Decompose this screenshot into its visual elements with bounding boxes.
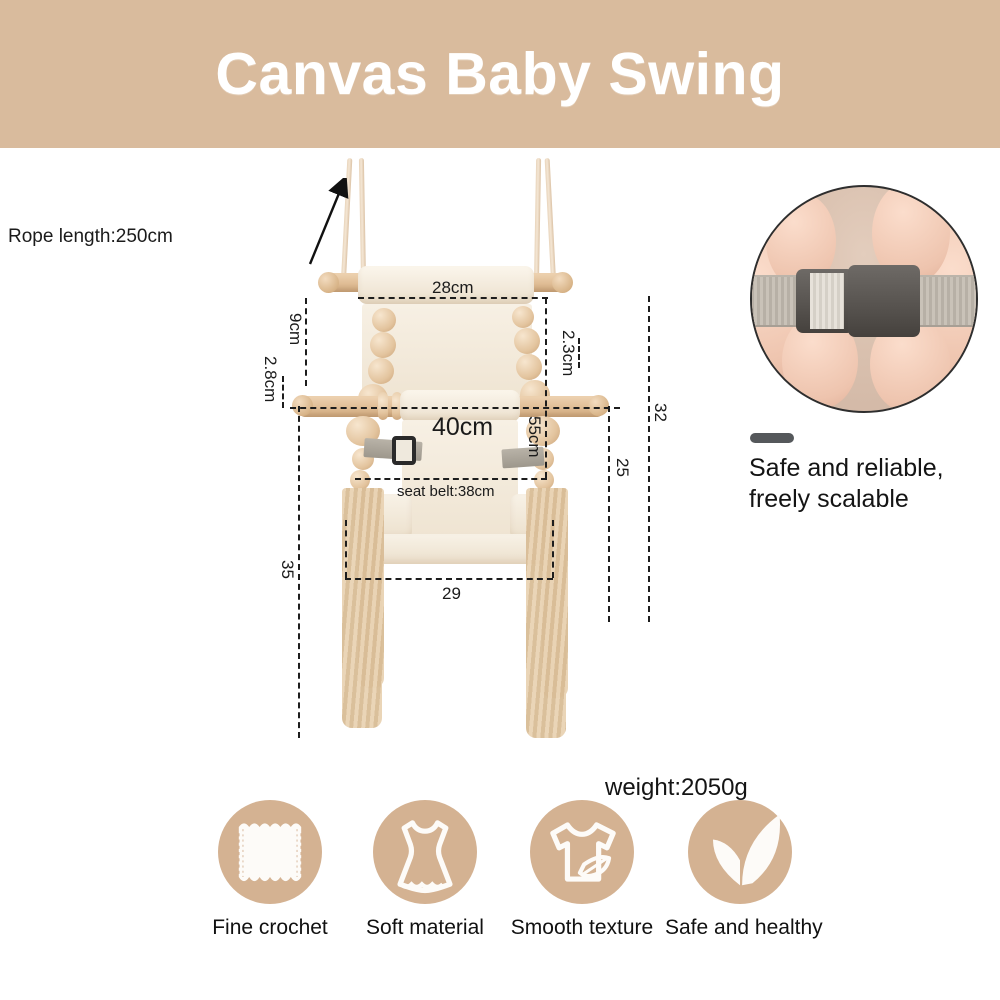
dim-label-25: 25 xyxy=(612,458,632,477)
dim-label-28cm: 28cm xyxy=(432,278,474,298)
dim-line-bar-level xyxy=(290,407,620,409)
buckle-caption-line2: freely scalable xyxy=(749,484,989,515)
rope-right-inner xyxy=(534,158,541,288)
feature-label-2: Soft material xyxy=(350,916,500,940)
buckle-male-half xyxy=(848,265,920,337)
dim-line-seat-belt xyxy=(355,478,547,480)
buckle-photo xyxy=(750,185,978,413)
bar-ring-1 xyxy=(378,392,388,420)
header-band: Canvas Baby Swing xyxy=(0,0,1000,148)
dim-line-2-3cm xyxy=(578,338,580,368)
weight-label: weight:2050g xyxy=(605,774,748,802)
leaf-sprout-icon xyxy=(688,800,792,904)
dim-line-35 xyxy=(298,406,300,738)
bead-right-2 xyxy=(514,328,540,354)
tassel-right2 xyxy=(542,488,568,698)
buckle-caption-line1: Safe and reliable, xyxy=(749,453,989,484)
dim-label-35: 35 xyxy=(277,560,297,579)
dim-line-9cm xyxy=(305,298,307,386)
feature-row: weight:2050g Fine crochet Soft material xyxy=(195,800,875,980)
feature-item-safe-healthy: Safe and healthy xyxy=(665,800,815,940)
caption-dash-marker xyxy=(750,433,794,443)
feature-label-3: Smooth texture xyxy=(507,916,657,940)
dim-label-9cm: 9cm xyxy=(285,313,305,345)
buckle-webbing-insert xyxy=(810,273,844,329)
dim-label-seat-belt: seat belt:38cm xyxy=(397,483,495,500)
bead-lower-right-3 xyxy=(534,470,554,490)
dim-label-55cm: 55cm xyxy=(524,416,544,458)
dim-line-29-right xyxy=(552,520,554,578)
dim-line-2-8cm xyxy=(282,376,284,408)
rope-length-label: Rope length:250cm xyxy=(8,226,173,248)
page-title: Canvas Baby Swing xyxy=(215,45,784,104)
upper-bar-cap-left xyxy=(318,272,339,293)
lower-bar-cap-right xyxy=(588,395,609,416)
feature-item-fine-crochet: Fine crochet xyxy=(195,800,345,940)
buckle-feature-card: Safe and reliable, freely scalable xyxy=(745,185,990,515)
tassel-left2 xyxy=(358,488,384,688)
dim-label-2-3cm: 2.3cm xyxy=(558,330,578,376)
dim-line-32 xyxy=(648,296,650,622)
dim-label-32: 32 xyxy=(650,403,670,422)
dim-label-40cm: 40cm xyxy=(432,413,493,442)
bead-left-2 xyxy=(370,332,396,358)
bead-right-3 xyxy=(516,354,542,380)
buckle-caption: Safe and reliable, freely scalable xyxy=(749,453,989,514)
dim-line-25 xyxy=(608,406,610,622)
dress-icon xyxy=(373,800,477,904)
feature-label-1: Fine crochet xyxy=(195,916,345,940)
feature-label-4: Safe and healthy xyxy=(665,916,815,940)
crochet-blanket-icon xyxy=(218,800,322,904)
bead-left-3 xyxy=(368,358,394,384)
dim-label-2-8cm: 2.8cm xyxy=(260,356,280,402)
dim-line-29-left xyxy=(345,520,347,578)
rope-right-outer xyxy=(545,158,557,288)
bead-lower-left-3 xyxy=(350,470,370,490)
tshirt-feather-icon xyxy=(530,800,634,904)
dim-line-55cm xyxy=(545,298,547,478)
feature-item-smooth-texture: Smooth texture xyxy=(507,800,657,940)
dim-label-29: 29 xyxy=(442,584,461,604)
feature-circle-4 xyxy=(688,800,792,904)
dim-line-29 xyxy=(345,578,553,580)
diagram-stage: Rope length:250cm 28cm 9cm 2.8cm 2.3cm 4… xyxy=(0,148,730,768)
bead-right-1 xyxy=(512,306,534,328)
upper-bar-cap-right xyxy=(552,272,573,293)
rope-length-arrow xyxy=(300,178,360,268)
bead-left-1 xyxy=(372,308,396,332)
lower-bar-cap-left xyxy=(292,395,313,416)
feature-circle-2 xyxy=(373,800,477,904)
product-infographic: Canvas Baby Swing xyxy=(0,0,1000,1000)
feature-item-soft-material: Soft material xyxy=(350,800,500,940)
feature-circle-1 xyxy=(218,800,322,904)
safety-belt-buckle xyxy=(392,436,416,465)
feature-circle-3 xyxy=(530,800,634,904)
